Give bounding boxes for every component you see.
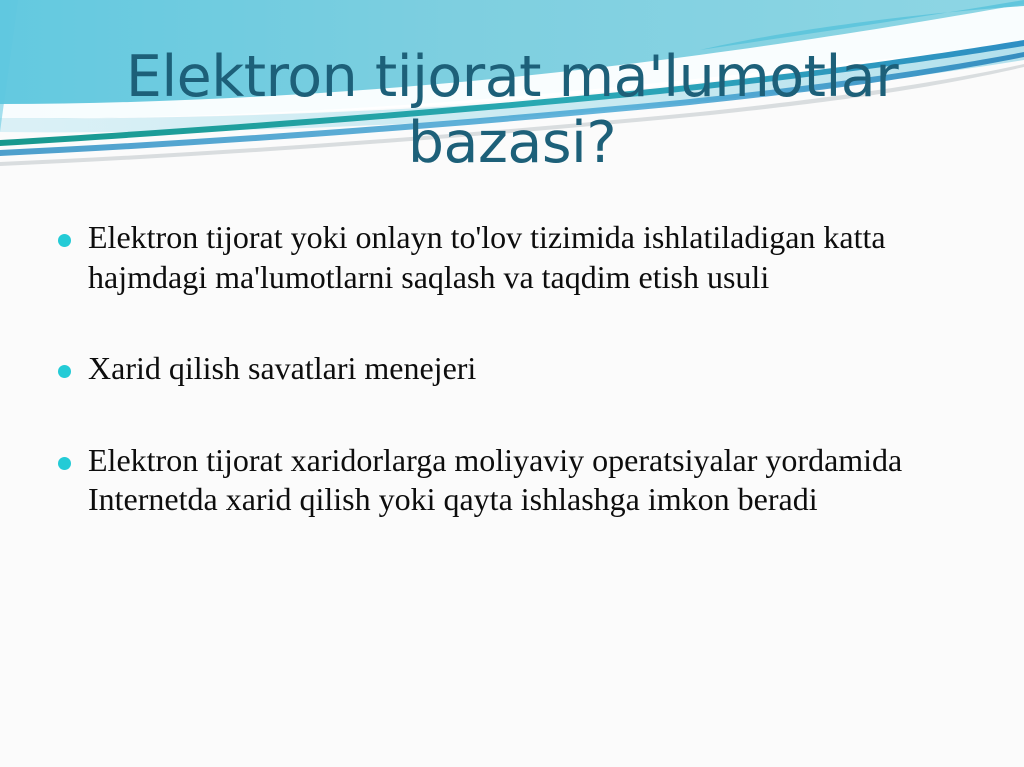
list-item-text: Elektron tijorat yoki onlayn to'lov tizi… bbox=[88, 218, 988, 297]
bullet-dot-icon bbox=[58, 365, 71, 378]
slide-title: Elektron tijorat ma'lumotlar bazasi? bbox=[0, 44, 1024, 176]
bullet-dot-icon bbox=[58, 457, 71, 470]
presentation-slide: Elektron tijorat ma'lumotlar bazasi? Ele… bbox=[0, 0, 1024, 767]
wave-upper-ribbon bbox=[700, 0, 1024, 50]
title-line-2: bazasi? bbox=[0, 110, 1024, 176]
list-item: Elektron tijorat yoki onlayn to'lov tizi… bbox=[58, 218, 988, 297]
list-item: Elektron tijorat xaridorlarga moliyaviy … bbox=[58, 441, 988, 520]
title-line-1: Elektron tijorat ma'lumotlar bbox=[0, 44, 1024, 110]
slide-body: Elektron tijorat yoki onlayn to'lov tizi… bbox=[58, 218, 988, 520]
list-item-text: Xarid qilish savatlari menejeri bbox=[88, 349, 988, 389]
bullet-dot-icon bbox=[58, 234, 71, 247]
list-item: Xarid qilish savatlari menejeri bbox=[58, 349, 988, 389]
list-item-text: Elektron tijorat xaridorlarga moliyaviy … bbox=[88, 441, 968, 520]
